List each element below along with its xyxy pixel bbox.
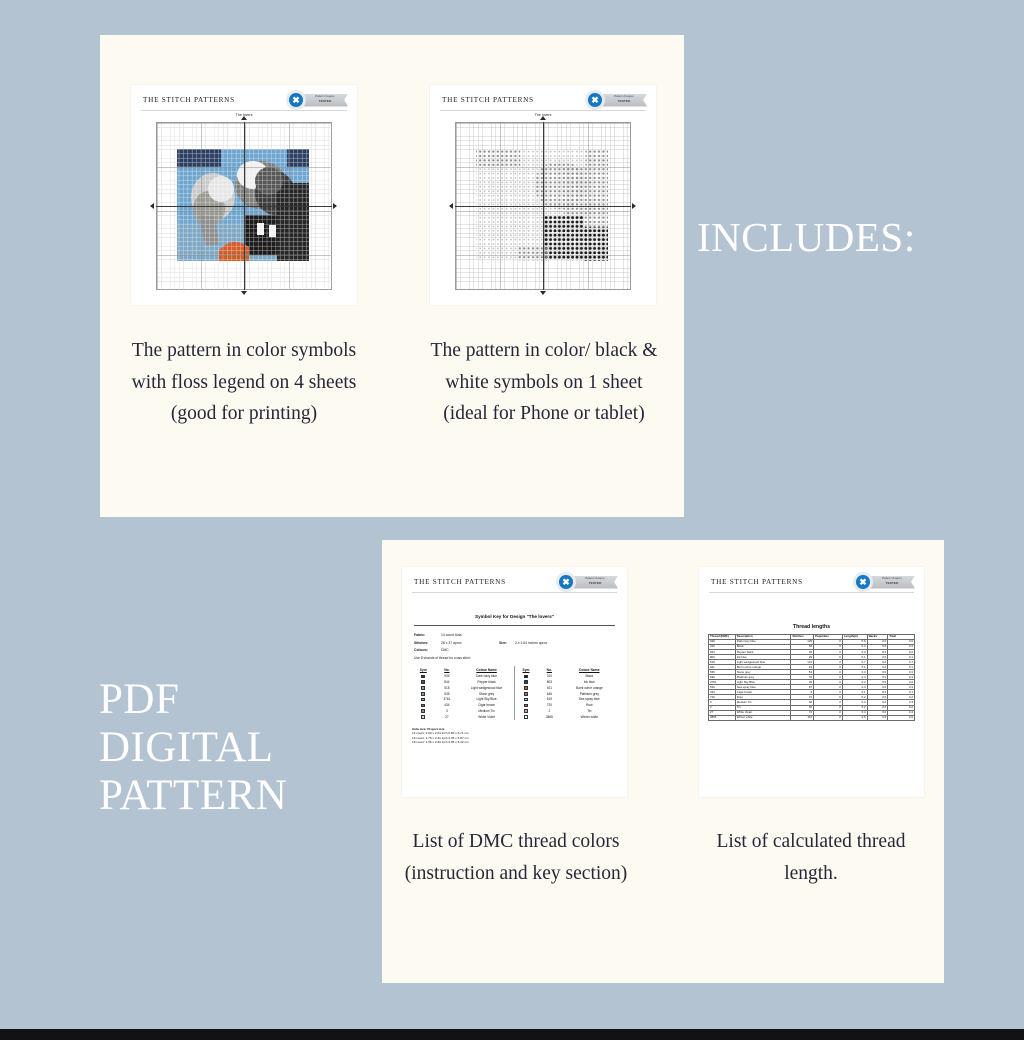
center-guide-vertical — [244, 122, 245, 290]
colours-label: Colours: — [414, 648, 441, 652]
sheet-header: THE STITCH PATTERNS Pattern Keeper TESTE… — [131, 85, 357, 115]
bottom-edge-band — [0, 1029, 1024, 1040]
stitches-value: 28 x 37 aprox — [441, 641, 499, 645]
center-marker-right-icon — [333, 203, 337, 209]
listing-canvas: INCLUDES: PDF DIGITAL PATTERN THE STITCH… — [0, 0, 1024, 1040]
badge-ribbon-line-1: Pattern Keeper — [304, 95, 346, 98]
badge-ribbon-line-2: TESTED — [574, 581, 616, 585]
badge-x-icon: ✖ — [289, 93, 304, 108]
pattern-keeper-badge-icon: Pattern Keeper TESTED ✖ — [585, 90, 647, 110]
thread-table-row: 3865Winter white11000.60.00.6 — [709, 715, 915, 720]
pattern-keeper-badge-icon: Pattern Keeper TESTED ✖ — [556, 572, 618, 592]
sheet-brand-title: THE STITCH PATTERNS — [442, 96, 534, 104]
col-sym-left: Sym — [412, 666, 435, 673]
meta-row-stitches: Stitches: 28 x 37 aprox Size: 2 x 2.64 i… — [414, 641, 615, 645]
symbol-legend-table: Sym No. Colour Name Sym No. Colour Name … — [412, 666, 617, 719]
stitches-label: Stitches: — [414, 641, 441, 645]
chart-area: The lovers — [131, 113, 357, 303]
thread-lengths-table: Thread (DMC) Description Stitches Pequni… — [708, 634, 915, 721]
colour-name-cell: White Violet — [459, 714, 514, 720]
fabric-label: Fabric: — [414, 633, 441, 637]
caption-calculated-thread-length: List of calculated thread length. — [694, 826, 928, 889]
aida-heading-b: Project size — [427, 727, 444, 731]
thread-table-body: 939Dark navy blue12500.60.00.6310Black66… — [709, 640, 915, 721]
caption-bw-symbols: The pattern in color/ black & white symb… — [424, 335, 664, 430]
badge-ribbon-line-1: Pattern Keeper — [603, 95, 645, 98]
center-marker-top-icon — [540, 116, 546, 120]
header-divider — [412, 592, 617, 593]
symbol-legend-header-row: Sym No. Colour Name Sym No. Colour Name — [412, 666, 617, 673]
chart-area: The lovers — [430, 113, 656, 303]
symbol-swatch-cell — [514, 714, 537, 720]
symbol-key-sheet[interactable]: THE STITCH PATTERNS Pattern Keeper TESTE… — [402, 567, 627, 797]
thread-lengths-body: Thread lengths Thread (DMC) Description … — [699, 597, 924, 721]
size-value: 2 x 2.64 inches aprox — [515, 641, 547, 645]
color-swatch-icon — [524, 715, 528, 719]
symbol-legend-row: 27White Violet3865Winter white — [412, 714, 617, 720]
col-no-right: No. — [537, 666, 562, 673]
caption-dmc-thread-colors: List of DMC thread colors (instruction a… — [402, 826, 630, 889]
center-marker-top-icon — [241, 116, 247, 120]
sheet-header: THE STITCH PATTERNS Pattern Keeper TESTE… — [699, 567, 924, 597]
color-swatch-icon — [421, 692, 425, 696]
strands-note-post: strands of thread for cross stitch — [423, 656, 471, 660]
strands-note: Use 2 strands of thread for cross stitch — [414, 656, 615, 660]
pequnites-cell: 0 — [814, 715, 843, 720]
pattern-keeper-badge-icon: Pattern Keeper TESTED ✖ — [853, 572, 915, 592]
symbol-key-heading: Symbol Key for Design "The lovers" — [402, 614, 627, 619]
col-name-right: Colour Name — [562, 666, 617, 673]
includes-heading: INCLUDES: — [697, 215, 916, 261]
badge-x-icon: ✖ — [588, 93, 603, 108]
bw-stitch-artwork — [456, 123, 632, 291]
color-swatch-icon — [524, 704, 528, 708]
sheet-brand-title: THE STITCH PATTERNS — [414, 578, 506, 586]
color-swatch-icon — [524, 692, 528, 696]
stitches-cell: 110 — [791, 715, 814, 720]
aida-line-3: 18 count: 1.56 x 2.60 inch 3.95 x 5.22 c… — [412, 740, 617, 744]
col-no-left: No. — [435, 666, 460, 673]
symbol-key-body: Symbol Key for Design "The lovers" Fabri… — [402, 597, 627, 745]
center-marker-left-icon — [449, 203, 453, 209]
pdf-line-3: PATTERN — [99, 772, 287, 820]
color-swatch-icon — [524, 709, 528, 713]
badge-x-icon: ✖ — [856, 575, 871, 590]
col-name-left: Colour Name — [459, 666, 514, 673]
col-sym-right: Sym — [514, 666, 537, 673]
heading-rule — [414, 625, 615, 626]
badge-ribbon-line-2: TESTED — [871, 581, 913, 585]
center-marker-bottom-icon — [540, 291, 546, 295]
color-swatch-icon — [421, 675, 425, 679]
badge-ribbon-line-1: Pattern Keeper — [871, 577, 913, 580]
fabric-value: 14 count Aida — [441, 633, 499, 637]
color-swatch-icon — [421, 715, 425, 719]
badge-x-icon: ✖ — [559, 575, 574, 590]
colour-name-cell: Winter white — [562, 714, 617, 720]
center-marker-left-icon — [150, 203, 154, 209]
color-swatch-icon — [421, 704, 425, 708]
header-divider — [709, 592, 914, 593]
thread-description-cell: Winter white — [735, 715, 791, 720]
sheet-brand-title: THE STITCH PATTERNS — [711, 578, 803, 586]
pdf-line-2: DIGITAL — [99, 724, 287, 772]
symbol-legend-body: 939Dark navy blue310Black844Pepper black… — [412, 673, 617, 719]
sheet-brand-title: THE STITCH PATTERNS — [143, 96, 235, 104]
header-divider — [141, 110, 347, 111]
sheet-header: THE STITCH PATTERNS Pattern Keeper TESTE… — [430, 85, 656, 115]
dmc-number-cell: 3865 — [537, 714, 562, 720]
color-swatch-icon — [421, 698, 425, 702]
thread-number-cell: 3865 — [709, 715, 736, 720]
thread-lengths-sheet[interactable]: THE STITCH PATTERNS Pattern Keeper TESTE… — [699, 567, 924, 797]
colours-value: DMC — [441, 648, 499, 652]
length-cell: 0.6 — [842, 715, 867, 720]
center-guide-vertical — [543, 122, 544, 290]
pattern-keeper-badge-icon: Pattern Keeper TESTED ✖ — [286, 90, 348, 110]
color-swatch-icon — [524, 698, 528, 702]
pdf-digital-pattern-heading: PDF DIGITAL PATTERN — [99, 676, 287, 820]
color-symbol-chart-sheet[interactable]: THE STITCH PATTERNS Pattern Keeper TESTE… — [131, 85, 357, 305]
thread-lengths-heading: Thread lengths — [699, 624, 924, 630]
pattern-meta: Fabric: 14 count Aida Stitches: 28 x 37 … — [414, 633, 615, 660]
color-swatch-icon — [421, 709, 425, 713]
badge-ribbon-line-2: TESTED — [304, 99, 346, 103]
dmc-number-cell: 27 — [435, 714, 460, 720]
color-swatch-icon — [421, 680, 425, 684]
badge-ribbon-line-2: TESTED — [603, 99, 645, 103]
bw-symbol-chart-sheet[interactable]: THE STITCH PATTERNS Pattern Keeper TESTE… — [430, 85, 656, 305]
aida-heading-a: Aida size: — [412, 727, 426, 731]
meta-row-fabric: Fabric: 14 count Aida — [414, 633, 615, 637]
total-cell: 0.6 — [888, 715, 915, 720]
color-swatch-icon — [524, 680, 528, 684]
color-swatch-icon — [524, 675, 528, 679]
size-label: Size: — [499, 641, 515, 645]
strands-note-pre: Use — [414, 656, 421, 660]
aida-size-block: Aida size: Project size 14 count: 2.00 x… — [412, 727, 617, 745]
color-swatch-icon — [524, 686, 528, 690]
meta-row-colours: Colours: DMC — [414, 648, 615, 652]
center-marker-bottom-icon — [241, 291, 247, 295]
caption-color-symbols: The pattern in color symbols with floss … — [128, 335, 360, 430]
badge-ribbon-line-1: Pattern Keeper — [574, 577, 616, 580]
backs-cell: 0.0 — [867, 715, 888, 720]
color-stitch-artwork — [157, 123, 333, 291]
symbol-swatch-cell — [412, 714, 435, 720]
pdf-line-1: PDF — [99, 676, 287, 724]
sheet-header: THE STITCH PATTERNS Pattern Keeper TESTE… — [402, 567, 627, 597]
center-marker-right-icon — [632, 203, 636, 209]
header-divider — [440, 110, 646, 111]
color-swatch-icon — [421, 686, 425, 690]
